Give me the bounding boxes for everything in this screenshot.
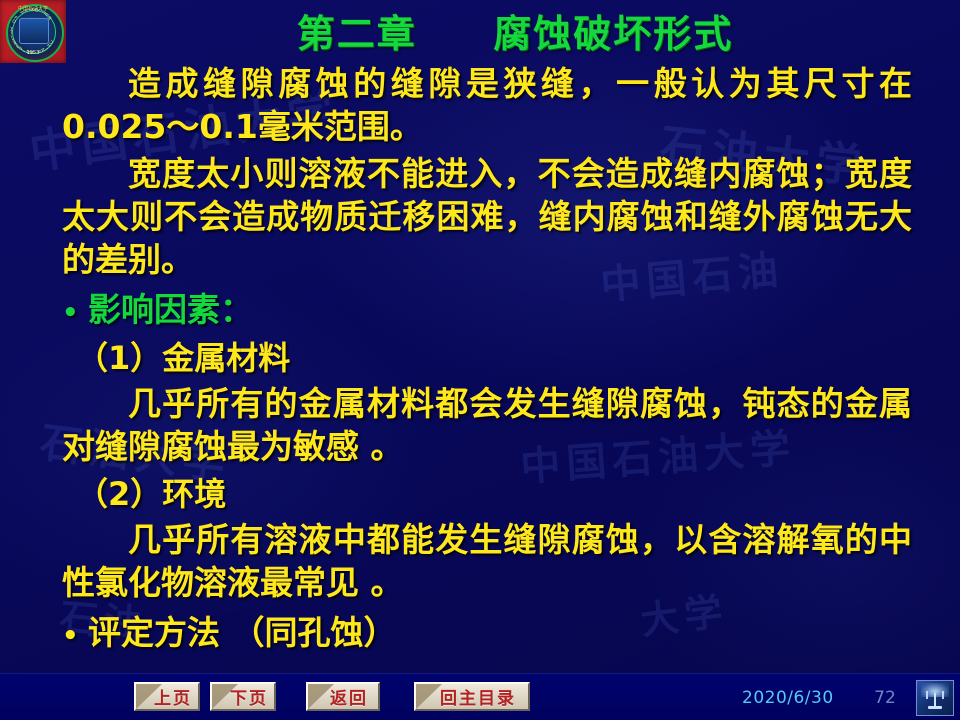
logo-core bbox=[19, 18, 49, 44]
icon-arm bbox=[942, 691, 944, 699]
presentation-slide: 中国石油大学 石油大学 中国石油 石油大学 中国石油大学 石油 大学 CHINA… bbox=[0, 0, 960, 720]
logo-year: 1953 bbox=[0, 50, 66, 56]
subitem-environment: （2）环境 bbox=[0, 472, 960, 516]
bullet-label: 影响因素： bbox=[88, 287, 253, 333]
slide-footer: 上页 下页 返回 回主目录 2020/6/30 72 bbox=[0, 673, 960, 720]
title-chapter: 第二章 bbox=[297, 12, 417, 56]
bullet-label: 评定方法 （同孔蚀） bbox=[88, 610, 397, 656]
paragraph-width-effect: 宽度太小则溶液不能进入，不会造成缝内腐蚀；宽度太大则不会造成物质迁移困难，缝内腐… bbox=[0, 152, 960, 281]
paragraph-environment: 几乎所有溶液中都能发生缝隙腐蚀，以含溶解氧的中性氯化物溶液最常见 。 bbox=[0, 518, 960, 604]
return-button[interactable]: 返回 bbox=[306, 682, 380, 711]
candelabra-icon bbox=[916, 680, 954, 716]
paragraph-crevice-width: 造成缝隙腐蚀的缝隙是狭缝，一般认为其尺寸在0.025～0.1毫米范围。 bbox=[0, 62, 960, 148]
prev-page-button[interactable]: 上页 bbox=[134, 682, 200, 711]
prev-page-button-label: 上页 bbox=[136, 684, 198, 709]
footer-date: 2020/6/30 bbox=[742, 688, 834, 708]
next-page-button-label: 下页 bbox=[212, 684, 274, 709]
title-heading: 腐蚀破坏形式 bbox=[493, 12, 733, 56]
page-title: 第二章 腐蚀破坏形式 bbox=[70, 8, 960, 60]
bullet-dot-icon: • bbox=[62, 290, 88, 336]
return-button-label: 返回 bbox=[308, 684, 378, 709]
main-menu-button-label: 回主目录 bbox=[416, 684, 528, 709]
main-menu-button[interactable]: 回主目录 bbox=[414, 682, 530, 711]
bullet-dot-icon: • bbox=[62, 613, 88, 659]
university-logo-icon: CHINA UNIVERSITY OF PETROLEUM 中国石油大学 195… bbox=[0, 0, 66, 63]
next-page-button[interactable]: 下页 bbox=[210, 682, 276, 711]
slide-body: 造成缝隙腐蚀的缝隙是狭缝，一般认为其尺寸在0.025～0.1毫米范围。 宽度太小… bbox=[0, 62, 960, 659]
paragraph-metal-material: 几乎所有的金属材料都会发生缝隙腐蚀，钝态的金属对缝隙腐蚀最为敏感 。 bbox=[0, 382, 960, 468]
icon-base bbox=[928, 706, 942, 709]
logo-center-text: 中国石油大学 bbox=[0, 6, 66, 12]
bullet-influencing-factors: • 影响因素： bbox=[0, 287, 960, 336]
icon-arm bbox=[926, 691, 928, 699]
subitem-metal-material: （1）金属材料 bbox=[0, 336, 960, 380]
icon-stem bbox=[934, 693, 936, 707]
bullet-evaluation-method: • 评定方法 （同孔蚀） bbox=[0, 610, 960, 659]
footer-page-number: 72 bbox=[872, 688, 898, 708]
